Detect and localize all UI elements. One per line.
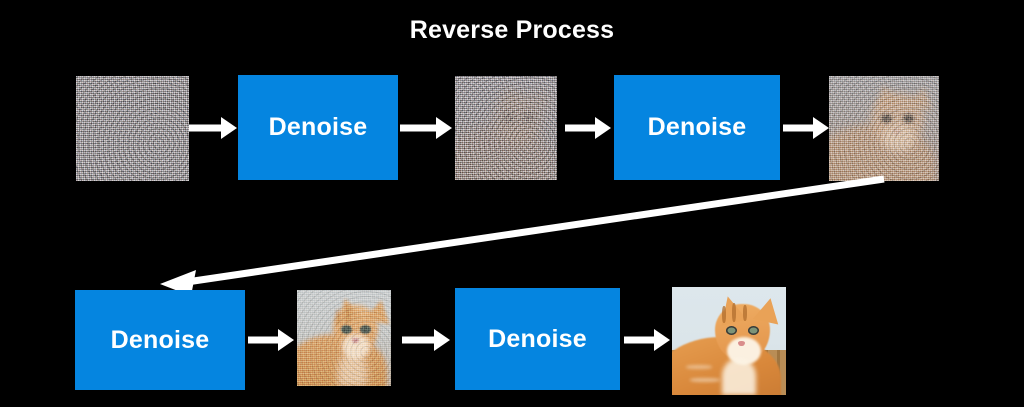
arrow-head bbox=[595, 117, 611, 139]
arrow-head bbox=[221, 117, 237, 139]
arrow-5 bbox=[248, 329, 294, 351]
arrow-shaft bbox=[189, 125, 223, 132]
grain-overlay bbox=[455, 76, 557, 180]
grain-overlay bbox=[76, 76, 189, 181]
grain-overlay bbox=[297, 290, 391, 386]
denoise-box-3[interactable]: Denoise bbox=[75, 290, 245, 390]
denoise-label: Denoise bbox=[269, 113, 368, 142]
denoise-box-2[interactable]: Denoise bbox=[614, 75, 780, 180]
denoise-box-4[interactable]: Denoise bbox=[455, 288, 620, 390]
image-noise-step-3 bbox=[297, 290, 391, 386]
arrow-shaft bbox=[624, 337, 656, 344]
denoise-label: Denoise bbox=[111, 326, 210, 355]
arrow-head bbox=[434, 329, 450, 351]
arrow-head bbox=[654, 329, 670, 351]
arrow-7 bbox=[624, 329, 670, 351]
noise-step-4-content bbox=[672, 287, 786, 395]
arrow-4 bbox=[783, 117, 829, 139]
noise-step-1-content bbox=[455, 76, 557, 180]
wrap-arrow-shaft bbox=[180, 179, 884, 283]
arrow-3 bbox=[565, 117, 611, 139]
arrow-head bbox=[813, 117, 829, 139]
denoise-label: Denoise bbox=[648, 113, 747, 142]
arrow-shaft bbox=[565, 125, 597, 132]
arrow-1 bbox=[189, 117, 237, 139]
arrow-6 bbox=[402, 329, 450, 351]
arrow-head bbox=[436, 117, 452, 139]
arrow-shaft bbox=[783, 125, 815, 132]
image-noise-step-2 bbox=[829, 76, 939, 181]
image-noise-step-4 bbox=[672, 287, 786, 395]
noise-step-0-content bbox=[76, 76, 189, 181]
noise-step-3-content bbox=[297, 290, 391, 386]
grain-overlay bbox=[829, 76, 939, 181]
image-noise-step-1 bbox=[455, 76, 557, 180]
page-title: Reverse Process bbox=[0, 16, 1024, 45]
arrow-shaft bbox=[248, 337, 280, 344]
image-noise-step-0 bbox=[76, 76, 189, 181]
arrow-shaft bbox=[400, 125, 438, 132]
arrow-head bbox=[278, 329, 294, 351]
diagram-canvas: Reverse Process Denoise bbox=[0, 0, 1024, 407]
arrow-shaft bbox=[402, 337, 436, 344]
denoise-label: Denoise bbox=[488, 325, 587, 354]
arrow-2 bbox=[400, 117, 452, 139]
denoise-box-1[interactable]: Denoise bbox=[238, 75, 398, 180]
noise-step-2-content bbox=[829, 76, 939, 181]
